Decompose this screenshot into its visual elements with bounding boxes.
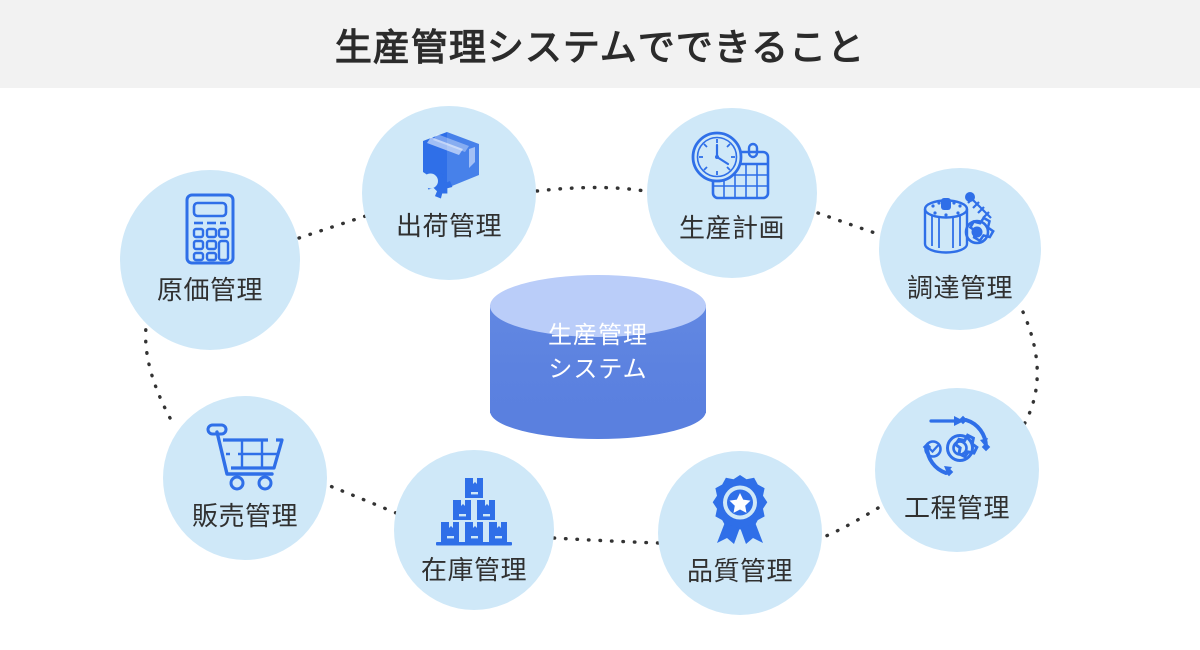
connector-chotatsu-kotei bbox=[1022, 312, 1037, 428]
node-hanbai-kanri[interactable]: 販売管理 bbox=[163, 396, 327, 560]
calculator-icon bbox=[179, 192, 241, 266]
connector-seisan-chotatsu bbox=[818, 213, 884, 236]
connector-shukka-seisan bbox=[537, 188, 645, 192]
clock-calendar-icon bbox=[689, 130, 775, 204]
node-zaiko-kanri[interactable]: 在庫管理 bbox=[394, 450, 554, 610]
node-genka-kanri[interactable]: 原価管理 bbox=[120, 170, 300, 350]
node-label: 在庫管理 bbox=[421, 550, 527, 587]
connector-hinshitsu-zaiko bbox=[554, 538, 658, 543]
node-label: 生産計画 bbox=[679, 208, 785, 245]
node-kotei-kanri[interactable]: 工程管理 bbox=[875, 388, 1039, 552]
node-shukka-kanri[interactable]: 出荷管理 bbox=[362, 106, 536, 280]
central-hub-cylinder: 生産管理 システム bbox=[490, 275, 706, 435]
node-chotatsu-kanri[interactable]: 調達管理 bbox=[879, 168, 1041, 330]
hub-label-line1: 生産管理 bbox=[490, 319, 706, 353]
shopping-cart-icon bbox=[200, 418, 290, 492]
connector-kotei-hinshitsu bbox=[821, 508, 878, 538]
hub-label: 生産管理 システム bbox=[490, 319, 706, 387]
connector-zaiko-hanbai bbox=[325, 484, 396, 513]
node-label: 原価管理 bbox=[157, 270, 263, 307]
page-title: 生産管理システムでできること bbox=[0, 0, 1200, 88]
materials-gear-icon bbox=[919, 190, 1001, 264]
node-hinshitsu-kanri[interactable]: 品質管理 bbox=[658, 451, 822, 615]
node-label: 販売管理 bbox=[192, 496, 298, 533]
stacked-boxes-icon bbox=[431, 472, 517, 546]
hub-label-line2: システム bbox=[490, 353, 706, 387]
node-label: 品質管理 bbox=[687, 551, 793, 588]
box-gear-icon bbox=[409, 128, 489, 202]
connector-genka-shukka bbox=[299, 216, 366, 238]
process-cycle-icon bbox=[916, 410, 998, 484]
node-label: 調達管理 bbox=[907, 268, 1013, 305]
node-label: 工程管理 bbox=[904, 488, 1010, 525]
node-seisan-keikaku[interactable]: 生産計画 bbox=[647, 108, 817, 278]
award-ribbon-icon bbox=[701, 473, 779, 547]
diagram-canvas: 原価管理 出荷管理 bbox=[0, 88, 1200, 650]
node-label: 出荷管理 bbox=[396, 206, 502, 243]
